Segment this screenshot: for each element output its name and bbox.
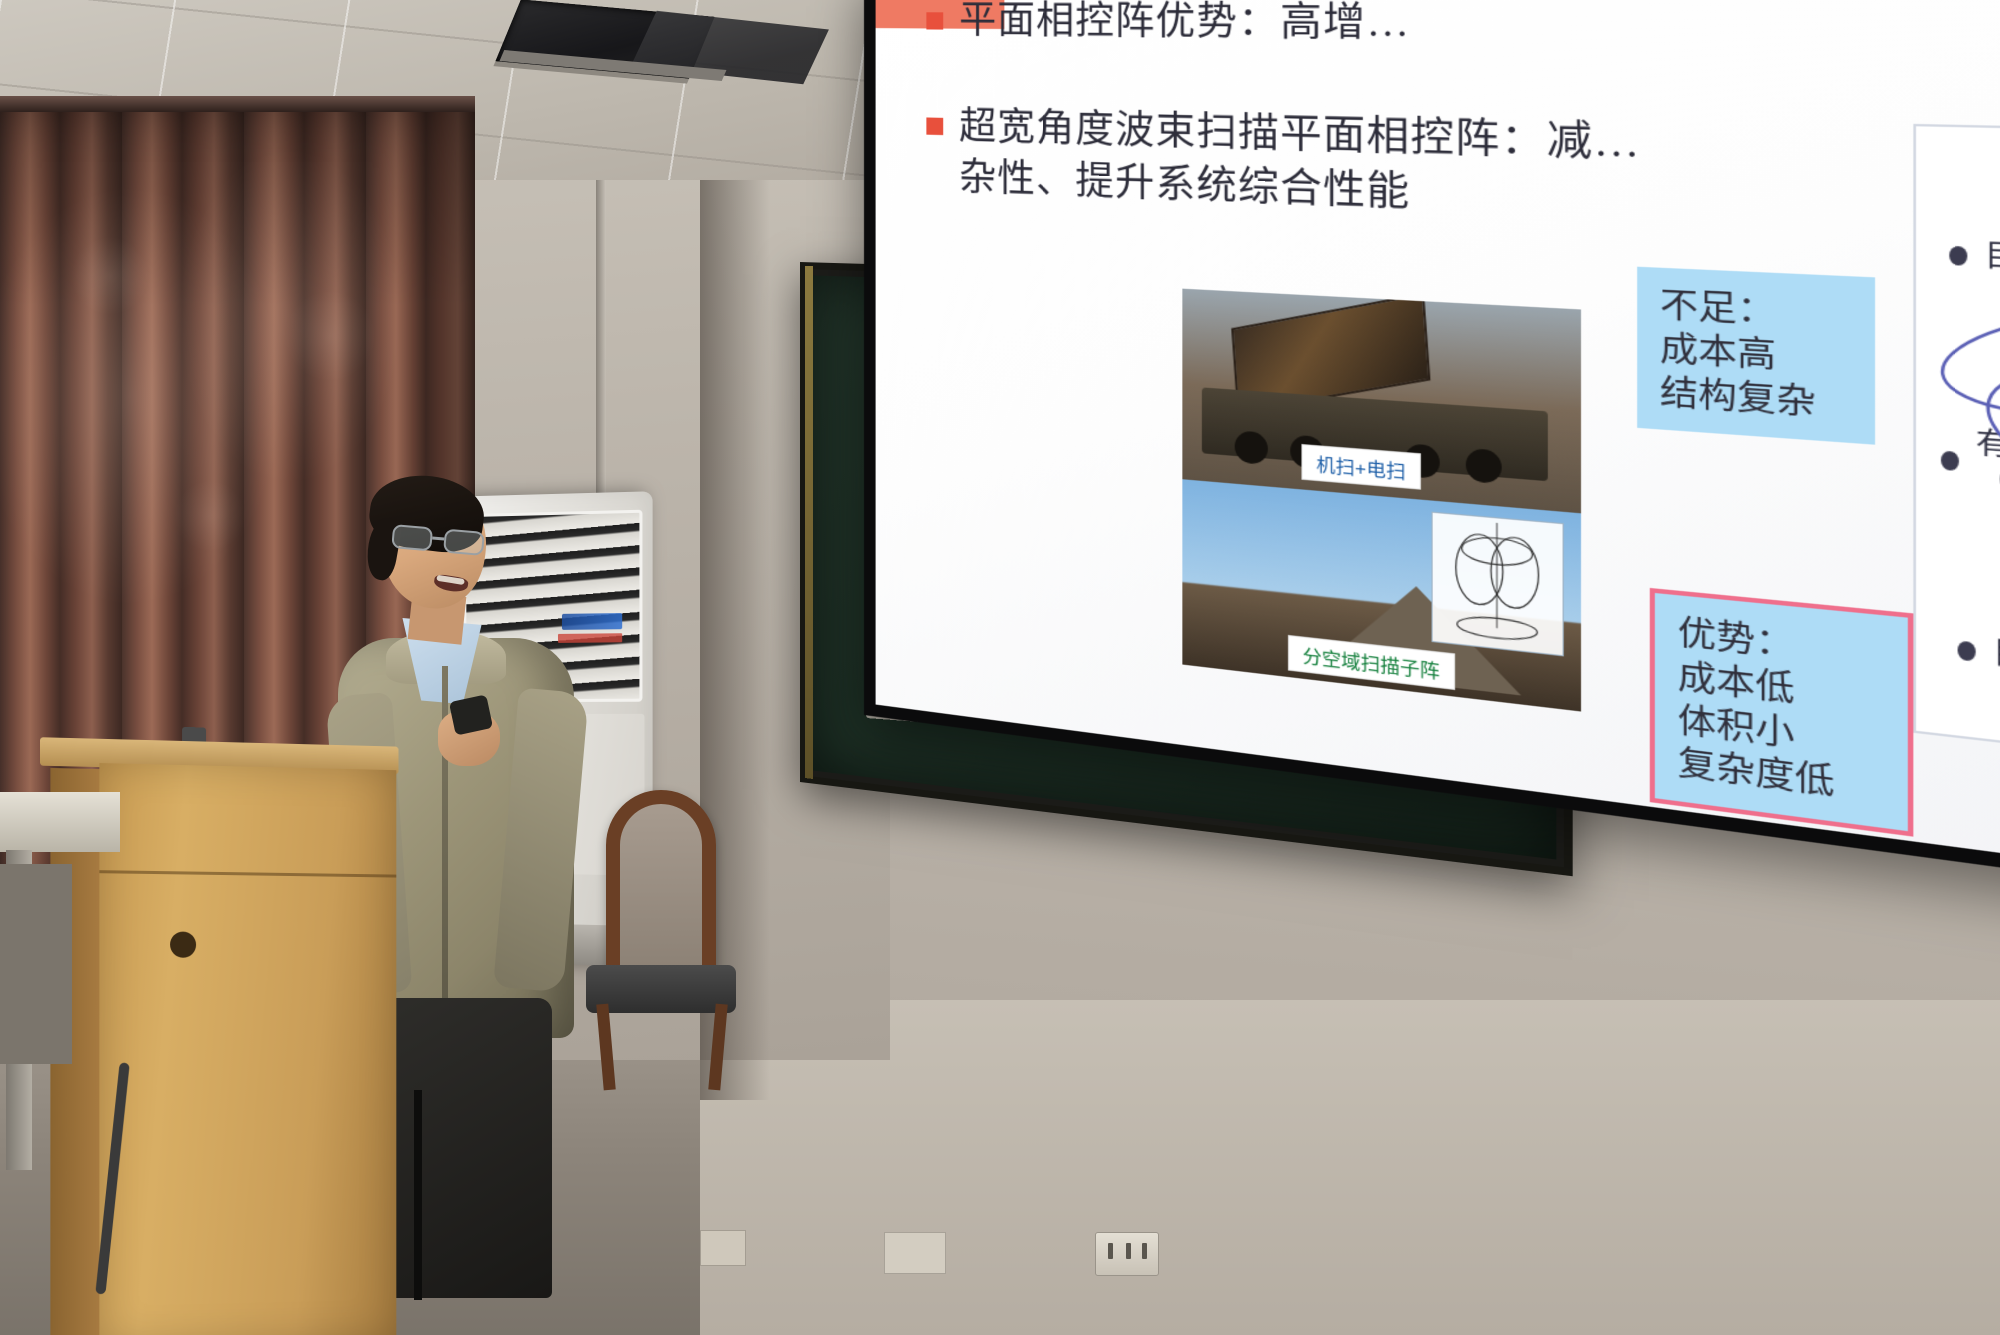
slide-photo-column: 机扫+电扫 分空域扫描 xyxy=(1182,289,1581,712)
slide-bullet-2-text: 超宽角度波束扫描平面相控阵：减… 杂性、提升系统综合性能 xyxy=(959,102,1641,229)
chair-backrest xyxy=(606,790,716,980)
glasses-lens-right xyxy=(443,529,485,556)
side-desk-shadow xyxy=(0,864,72,1064)
beam-cone-arrows-icon xyxy=(1859,75,2000,759)
slide-bullet-2: 超宽角度波束扫描平面相控阵：减… 杂性、提升系统综合性能 xyxy=(926,101,2000,253)
chair-leg xyxy=(708,1004,727,1091)
callout-disadvantage: 不足： 成本高 结构复杂 xyxy=(1637,267,1875,445)
presenter-trousers xyxy=(382,998,552,1298)
glasses-lens-left xyxy=(391,524,433,551)
socket-slot xyxy=(1142,1243,1147,1259)
truck-wheel xyxy=(1235,430,1268,465)
lecture-hall-photo: 平面相控阵优势：高增… 超宽角度波束扫描平面相控阵：减… 杂性、提升系统综合性能 xyxy=(0,0,2000,1335)
radar-truck-photo: 机扫+电扫 xyxy=(1182,289,1581,514)
beam-pattern-diagram xyxy=(1432,512,1564,657)
podium-cable-hole xyxy=(170,931,196,957)
wall-junction-box xyxy=(884,1232,946,1274)
bullet-square-icon xyxy=(926,117,943,135)
side-desk xyxy=(0,792,120,852)
bullet-square-icon xyxy=(926,12,943,29)
truck-wheel xyxy=(1466,448,1502,484)
podium-front-panel xyxy=(99,763,396,1335)
slide-bullet-1-text: 平面相控阵优势：高增… xyxy=(959,0,1410,51)
blackboard-frame-edge xyxy=(805,266,813,779)
glasses-bridge xyxy=(432,536,444,540)
trouser-leg-split xyxy=(414,1090,422,1300)
wall-power-socket[interactable] xyxy=(1095,1232,1159,1276)
slide-bullet-1: 平面相控阵优势：高增… xyxy=(926,0,2000,60)
socket-slot xyxy=(1108,1243,1113,1259)
curtain-rail xyxy=(0,96,475,112)
socket-slot xyxy=(1126,1243,1131,1259)
subarray-photo: 分空域扫描子阵 xyxy=(1182,479,1581,711)
right-wall-lower xyxy=(700,1000,2000,1335)
wall-plate xyxy=(700,1230,746,1266)
